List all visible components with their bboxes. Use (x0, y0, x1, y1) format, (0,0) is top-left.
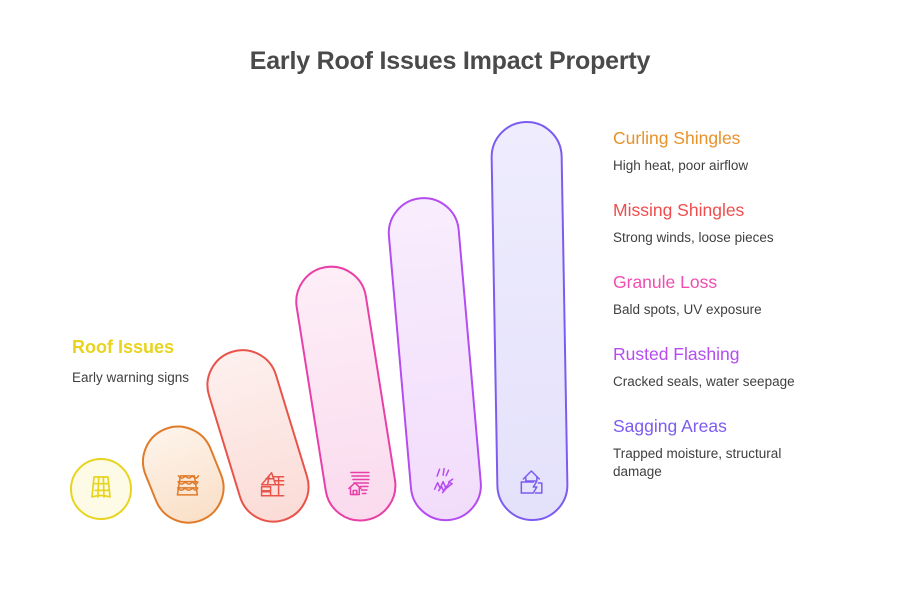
legend-subtitle: Trapped moisture, structural damage (613, 445, 813, 481)
legend-title: Rusted Flashing (613, 342, 863, 366)
bar-sagging-areas[interactable] (490, 120, 569, 521)
sagging-areas-icon (509, 459, 555, 505)
legend-subtitle: Strong winds, loose pieces (613, 229, 818, 247)
rusted-flashing-icon (423, 459, 469, 505)
legend-title: Missing Shingles (613, 198, 863, 222)
bar-rusted-flashing[interactable] (385, 194, 485, 524)
legend-item-curling-shingles[interactable]: Curling Shingles High heat, poor airflow (613, 126, 863, 175)
legend-item-rusted-flashing[interactable]: Rusted Flashing Cracked seals, water see… (613, 342, 863, 391)
root-title: Roof Issues (72, 335, 302, 359)
legend-title: Curling Shingles (613, 126, 863, 150)
legend-subtitle: Bald spots, UV exposure (613, 301, 818, 319)
legend: Curling Shingles High heat, poor airflow… (613, 126, 863, 481)
legend-item-missing-shingles[interactable]: Missing Shingles Strong winds, loose pie… (613, 198, 863, 247)
legend-subtitle: High heat, poor airflow (613, 157, 818, 175)
roof-tiles-icon (84, 470, 118, 509)
legend-title: Sagging Areas (613, 414, 863, 438)
missing-shingles-icon (250, 461, 296, 507)
curling-shingles-icon (164, 462, 210, 508)
legend-subtitle: Cracked seals, water seepage (613, 373, 818, 391)
page-title: Early Roof Issues Impact Property (0, 47, 900, 76)
infographic-canvas: Early Roof Issues Impact Property Roof I… (0, 0, 900, 594)
root-node-circle[interactable] (70, 458, 132, 520)
granule-loss-icon (337, 459, 383, 505)
legend-item-granule-loss[interactable]: Granule Loss Bald spots, UV exposure (613, 270, 863, 319)
legend-item-sagging-areas[interactable]: Sagging Areas Trapped moisture, structur… (613, 414, 863, 481)
legend-title: Granule Loss (613, 270, 863, 294)
